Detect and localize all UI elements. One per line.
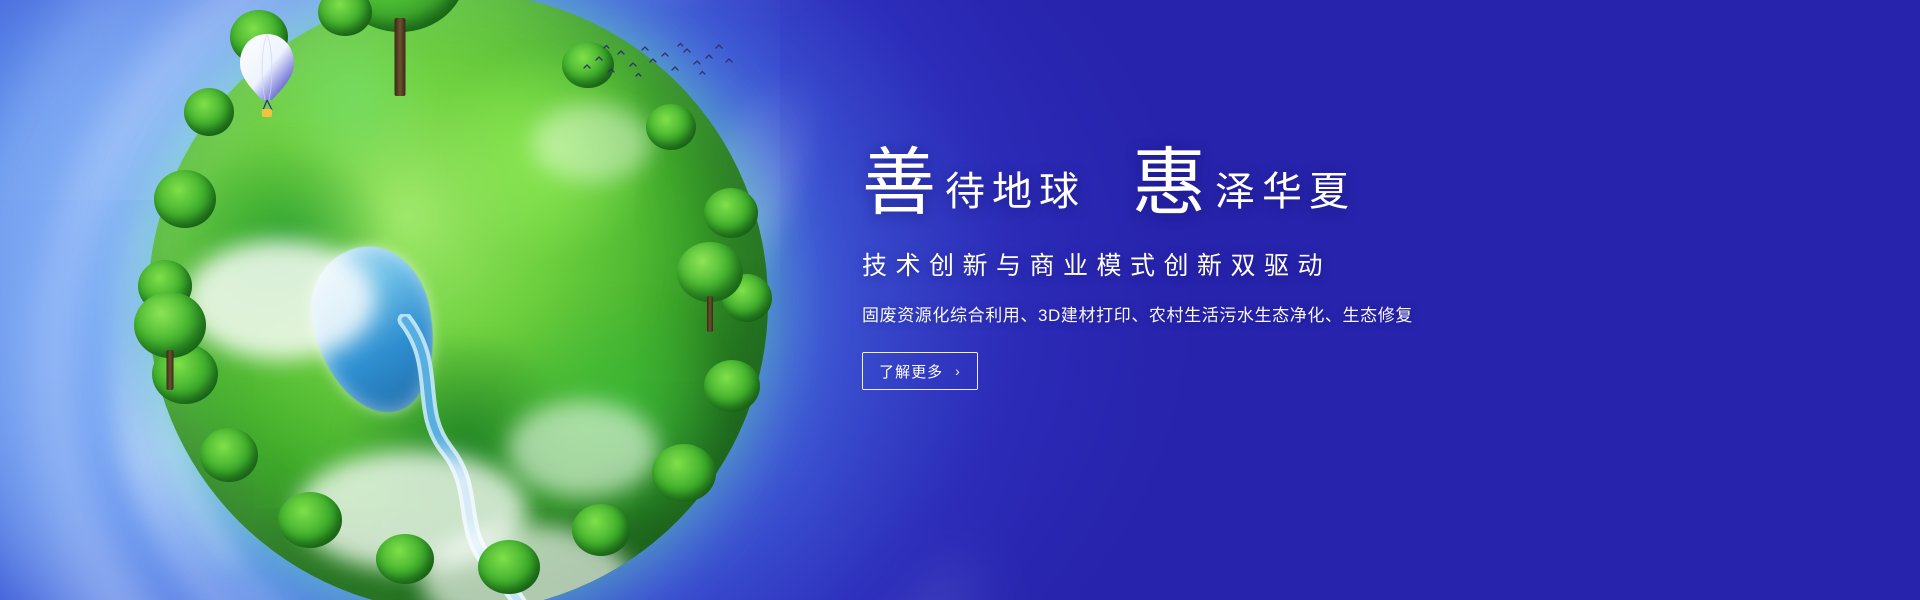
chevron-right-icon: › [955, 364, 961, 378]
banner-copy-block: 善 待地球 惠 泽华夏 技术创新与商业模式创新双驱动 固废资源化综合利用、3D建… [862, 128, 1482, 390]
learn-more-button[interactable]: 了解更多 › [862, 352, 978, 390]
page-title: 善 待地球 惠 泽华夏 [862, 128, 1482, 220]
learn-more-label: 了解更多 [879, 361, 943, 382]
headline-char-1: 善 [862, 149, 937, 220]
hero-banner: 善 待地球 惠 泽华夏 技术创新与商业模式创新双驱动 固废资源化综合利用、3D建… [0, 0, 1920, 600]
headline-char-2: 惠 [1132, 149, 1207, 220]
headline-text-2: 泽华夏 [1215, 172, 1356, 220]
banner-description: 固废资源化综合利用、3D建材打印、农村生活污水生态净化、生态修复 [862, 301, 1482, 326]
headline-text-1: 待地球 [945, 172, 1086, 220]
banner-subtitle: 技术创新与商业模式创新双驱动 [862, 246, 1482, 282]
